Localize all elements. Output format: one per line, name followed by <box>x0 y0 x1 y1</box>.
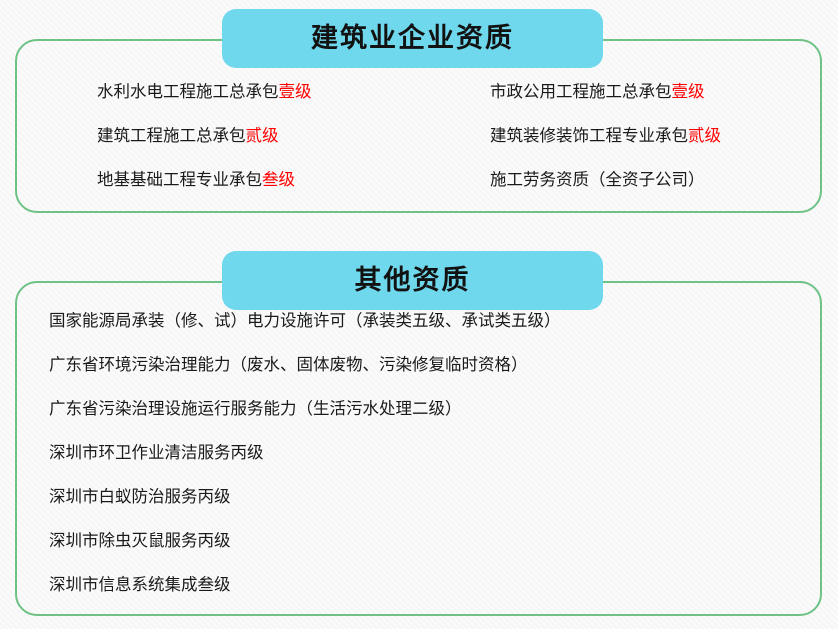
list-item: 深圳市白蚁防治服务丙级 <box>49 487 809 531</box>
list-item: 国家能源局承装（修、试）电力设施许可（承装类五级、承试类五级） <box>49 311 809 355</box>
list-item: 深圳市信息系统集成叁级 <box>49 575 809 619</box>
qualification-item: 建筑工程施工总承包贰级 <box>17 126 412 147</box>
other-qualification-list: 国家能源局承装（修、试）电力设施许可（承装类五级、承试类五级） 广东省环境污染治… <box>49 311 809 619</box>
qualification-item: 地基基础工程专业承包叁级 <box>17 170 412 191</box>
qualification-grade: 壹级 <box>279 83 312 101</box>
qualification-name: 水利水电工程施工总承包 <box>97 83 279 101</box>
qualification-item: 建筑装修装饰工程专业承包贰级 <box>412 126 807 147</box>
qualification-name: 地基基础工程专业承包 <box>97 171 262 189</box>
qualification-grade: 贰级 <box>688 127 721 145</box>
list-item: 深圳市环卫作业清洁服务丙级 <box>49 443 809 487</box>
qualification-name: 施工劳务资质（全资子公司） <box>490 171 705 189</box>
qualification-grade: 贰级 <box>246 127 279 145</box>
qualification-item: 施工劳务资质（全资子公司） <box>412 170 807 191</box>
construction-qualification-grid: 水利水电工程施工总承包壹级 市政公用工程施工总承包壹级 建筑工程施工总承包贰级 … <box>17 82 807 191</box>
list-item: 深圳市除虫灭鼠服务丙级 <box>49 531 809 575</box>
list-item: 广东省环境污染治理能力（废水、固体废物、污染修复临时资格） <box>49 355 809 399</box>
qualification-name: 建筑工程施工总承包 <box>97 127 246 145</box>
qualification-name: 建筑装修装饰工程专业承包 <box>490 127 688 145</box>
qualification-item: 市政公用工程施工总承包壹级 <box>412 82 807 103</box>
other-section-title-badge: 其他资质 <box>222 251 603 310</box>
construction-section-title: 建筑业企业资质 <box>311 25 514 52</box>
qualification-infographic: 建筑业企业资质 水利水电工程施工总承包壹级 市政公用工程施工总承包壹级 建筑工程… <box>0 0 838 629</box>
construction-section-title-badge: 建筑业企业资质 <box>222 9 603 68</box>
qualification-grade: 壹级 <box>672 83 705 101</box>
qualification-grade: 叁级 <box>262 171 295 189</box>
qualification-name: 市政公用工程施工总承包 <box>490 83 672 101</box>
qualification-item: 水利水电工程施工总承包壹级 <box>17 82 412 103</box>
list-item: 广东省污染治理设施运行服务能力（生活污水处理二级） <box>49 399 809 443</box>
other-section-title: 其他资质 <box>355 267 471 294</box>
